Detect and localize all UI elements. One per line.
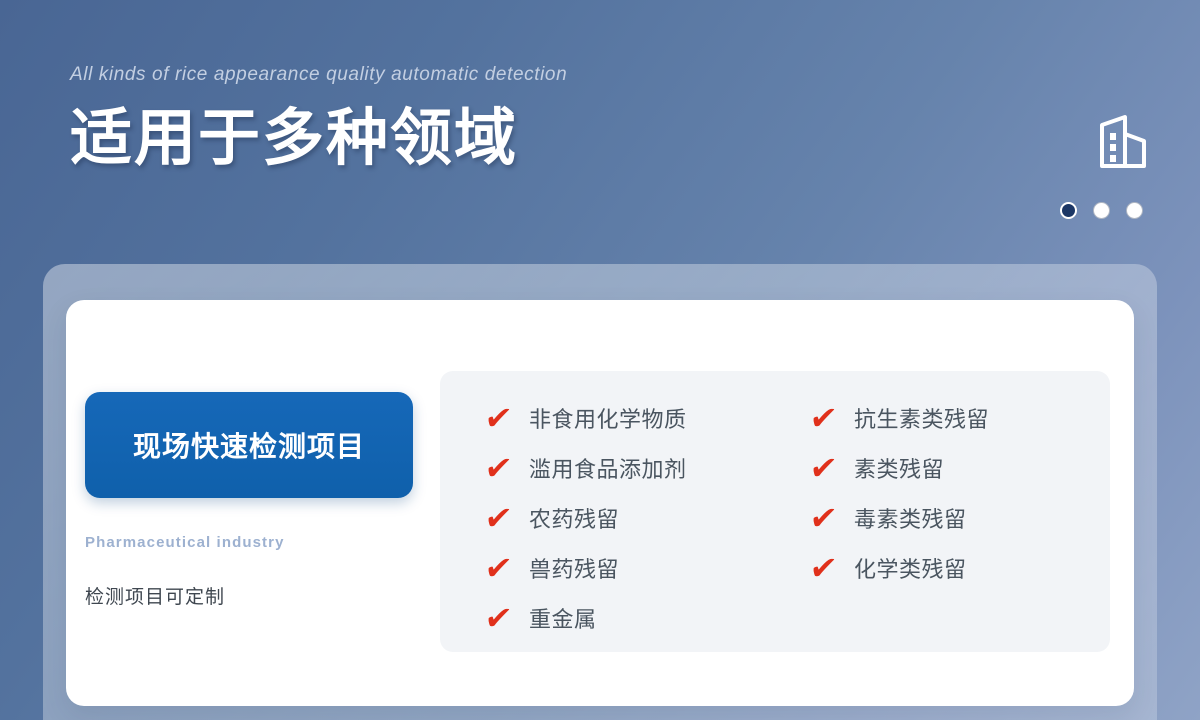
- building-icon: [1092, 112, 1154, 174]
- checklist-column-left: ✔ 非食用化学物质 ✔ 滥用食品添加剂 ✔ 农药残留 ✔ 兽药残留 ✔ 重金属: [440, 371, 790, 652]
- list-item: ✔ 化学类残留: [810, 543, 1110, 593]
- page-title: 适用于多种领域: [70, 102, 830, 176]
- check-icon: ✔: [483, 402, 531, 434]
- list-item-label: 滥用食品添加剂: [529, 452, 687, 484]
- list-item: ✔ 非食用化学物质: [485, 393, 790, 443]
- check-icon: ✔: [483, 602, 531, 634]
- list-item-label: 抗生素类残留: [854, 402, 989, 434]
- list-item: ✔ 滥用食品添加剂: [485, 443, 790, 493]
- carousel-dot-2[interactable]: [1093, 202, 1110, 219]
- list-item: ✔ 重金属: [485, 593, 790, 643]
- list-item-label: 素类残留: [854, 452, 944, 484]
- list-item: ✔ 兽药残留: [485, 543, 790, 593]
- list-item-label: 农药残留: [529, 502, 619, 534]
- customizable-note: 检测项目可定制: [85, 582, 425, 609]
- check-icon: ✔: [483, 452, 531, 484]
- check-icon: ✔: [808, 402, 856, 434]
- check-icon: ✔: [808, 502, 856, 534]
- list-item-label: 重金属: [529, 602, 597, 634]
- list-item-label: 毒素类残留: [854, 502, 967, 534]
- list-item: ✔ 毒素类残留: [810, 493, 1110, 543]
- list-item: ✔ 抗生素类残留: [810, 393, 1110, 443]
- slide-root: All kinds of rice appearance quality aut…: [0, 0, 1200, 720]
- list-item-label: 非食用化学物质: [529, 402, 687, 434]
- list-item-label: 化学类残留: [854, 552, 967, 584]
- carousel-dot-3[interactable]: [1126, 202, 1143, 219]
- check-icon: ✔: [808, 452, 856, 484]
- check-icon: ✔: [483, 502, 531, 534]
- list-item: ✔ 农药残留: [485, 493, 790, 543]
- carousel-dots[interactable]: [1060, 202, 1143, 219]
- check-icon: ✔: [483, 552, 531, 584]
- header-eyebrow: All kinds of rice appearance quality aut…: [70, 62, 830, 88]
- header: All kinds of rice appearance quality aut…: [70, 62, 830, 176]
- left-column: 现场快速检测项目 Pharmaceutical industry 检测项目可定制: [85, 392, 425, 609]
- rapid-detection-button[interactable]: 现场快速检测项目: [85, 392, 413, 498]
- carousel-dot-1[interactable]: [1060, 202, 1077, 219]
- industry-label: Pharmaceutical industry: [85, 534, 425, 551]
- check-icon: ✔: [808, 552, 856, 584]
- checklist-panel: ✔ 非食用化学物质 ✔ 滥用食品添加剂 ✔ 农药残留 ✔ 兽药残留 ✔ 重金属: [440, 371, 1110, 652]
- list-item-label: 兽药残留: [529, 552, 619, 584]
- list-item: ✔ 素类残留: [810, 443, 1110, 493]
- checklist-column-right: ✔ 抗生素类残留 ✔ 素类残留 ✔ 毒素类残留 ✔ 化学类残留: [790, 371, 1110, 652]
